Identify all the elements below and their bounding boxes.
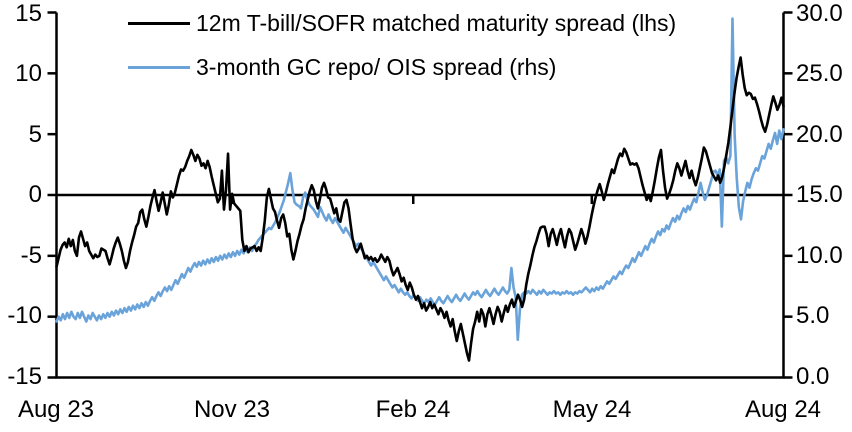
- series-line-tbill-sofr-spread: [57, 58, 784, 361]
- chart-root: 15 10 5 0 -5 -10 -15 30.0 25.0 20.0 15.0…: [0, 0, 852, 432]
- chart-plot-area: [0, 0, 852, 432]
